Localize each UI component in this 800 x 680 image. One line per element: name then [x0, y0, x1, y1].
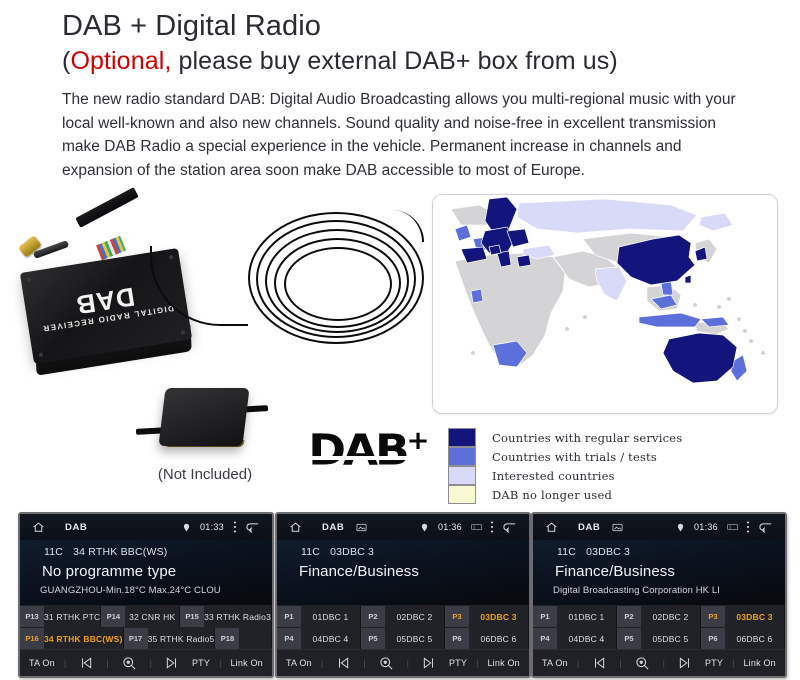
preset-name: 02DBC 2 — [385, 612, 444, 622]
overflow-menu-icon[interactable] — [746, 521, 750, 533]
divider: | — [64, 658, 66, 668]
legend-row: Countries with trials / tests — [448, 447, 682, 466]
preset-number: P14 — [101, 606, 125, 627]
divider: | — [150, 658, 152, 668]
channel-id: 11C — [301, 546, 320, 558]
preset-grid: P1331 RTHK PTC P1432 CNR HK P1533 RTHK R… — [20, 605, 272, 649]
preset-name: 03DBC 3 — [469, 612, 528, 622]
preset-item[interactable]: P202DBC 2 — [617, 606, 701, 627]
clock: 01:36 — [438, 522, 462, 532]
clock: 01:33 — [200, 522, 224, 532]
status-bar: DAB 01:33 — [20, 514, 272, 540]
preset-name: 32 CNR HK — [125, 612, 179, 622]
coax-cable-coil — [238, 206, 428, 356]
radio-text-info: GUANGZHOU-Min.18°C Max.24°C CLOU — [20, 585, 272, 596]
preset-grid: P101DBC 1 P202DBC 2 P303DBC 3 P404DBC 4 … — [277, 605, 529, 649]
radio-screenshot-3[interactable]: DAB 01:36 11C03 — [531, 512, 787, 678]
description-paragraph: The new radio standard DAB: Digital Audi… — [62, 88, 742, 182]
location-pin-icon — [420, 522, 429, 533]
radio-text-info: Digital Broadcasting Corporation HK LI — [533, 585, 785, 596]
status-bar: DAB 01:36 — [533, 514, 785, 540]
map-switzerland — [489, 245, 501, 255]
preset-item[interactable]: P505DBC 5 — [617, 628, 701, 649]
ta-button[interactable]: TA On — [542, 658, 568, 668]
app-title: DAB — [322, 522, 344, 533]
legend-row: DAB no longer used — [448, 485, 682, 504]
header-block: DAB + Digital Radio (Optional, please bu… — [62, 8, 762, 182]
preset-item[interactable]: P101DBC 1 — [533, 606, 617, 627]
preset-number: P6 — [445, 628, 469, 649]
skip-next-icon[interactable] — [422, 657, 436, 669]
wire-harness — [75, 187, 138, 228]
preset-number: P6 — [701, 628, 725, 649]
radio-screenshot-1[interactable]: DAB 01:33 11C34 RTHK BBC(WS) No programm… — [18, 512, 274, 678]
preset-row: P404DBC 4 P505DBC 5 P606DBC 6 — [277, 627, 529, 649]
link-button[interactable]: Link On — [743, 658, 775, 668]
preset-item[interactable]: P1735 RTHK Radio5 — [124, 628, 216, 649]
app-title: DAB — [65, 522, 87, 533]
preset-item-active[interactable]: P1634 RTHK BBC(WS) — [20, 628, 124, 649]
station-name: 34 RTHK BBC(WS) — [73, 546, 167, 558]
skip-previous-icon[interactable] — [79, 657, 93, 669]
sd-card-icon — [471, 523, 482, 531]
legend-swatch-nolonger — [448, 485, 476, 504]
dab-plus-logo: DAB+ — [308, 418, 442, 466]
cable-tail — [388, 210, 424, 242]
legend-label-trials: Countries with trials / tests — [492, 450, 657, 464]
preset-item-active[interactable]: P303DBC 3 — [701, 606, 785, 627]
preset-number: P1 — [533, 606, 557, 627]
skip-next-icon[interactable] — [678, 657, 692, 669]
legend-label-interested: Interested countries — [492, 469, 615, 483]
preset-name: 03DBC 3 — [725, 612, 784, 622]
antenna-top — [158, 388, 249, 446]
preset-name: 06DBC 6 — [469, 634, 528, 644]
preset-item[interactable]: P505DBC 5 — [361, 628, 445, 649]
preset-row: P404DBC 4 P505DBC 5 P606DBC 6 — [533, 627, 785, 649]
preset-name: 05DBC 5 — [385, 634, 444, 644]
link-button[interactable]: Link On — [487, 658, 519, 668]
radio-screenshot-2[interactable]: DAB 01:36 11C03 — [275, 512, 531, 678]
preset-item[interactable]: P1533 RTHK Radio3 — [180, 606, 272, 627]
legend-swatch-regular — [448, 428, 476, 447]
channel-id: 11C — [557, 546, 576, 558]
page-root: DAB + Digital Radio (Optional, please bu… — [0, 0, 800, 680]
preset-item[interactable]: P202DBC 2 — [361, 606, 445, 627]
preset-item[interactable]: P606DBC 6 — [445, 628, 529, 649]
preset-number: P2 — [361, 606, 385, 627]
search-scan-icon[interactable] — [122, 656, 137, 671]
back-arrow-icon[interactable] — [502, 521, 517, 533]
preset-number: P13 — [20, 606, 44, 627]
page-subtitle: (Optional, please buy external DAB+ box … — [62, 44, 762, 78]
preset-name: 33 RTHK Radio3 — [204, 612, 271, 622]
preset-number: P4 — [277, 628, 301, 649]
preset-row: P1634 RTHK BBC(WS) P1735 RTHK Radio5 P18 — [20, 627, 272, 649]
search-scan-icon[interactable] — [635, 656, 650, 671]
cable-loop — [284, 247, 392, 321]
now-playing-area: 11C03DBC 3 Finance/Business — [277, 540, 529, 605]
preset-name: 04DBC 4 — [557, 634, 616, 644]
preset-number: P18 — [215, 628, 239, 649]
legend-label-regular: Countries with regular services — [492, 431, 682, 445]
preset-number: P2 — [617, 606, 641, 627]
divider: | — [363, 658, 365, 668]
preset-number: P3 — [701, 606, 725, 627]
map-legend: Countries with regular services Countrie… — [448, 428, 682, 504]
legend-swatch-interested — [448, 466, 476, 485]
programme-type: Finance/Business — [277, 563, 529, 580]
preset-item[interactable]: P606DBC 6 — [701, 628, 785, 649]
sd-card-icon — [727, 523, 738, 531]
page-title: DAB + Digital Radio — [62, 8, 762, 44]
preset-name: 04DBC 4 — [301, 634, 360, 644]
map-greece — [517, 255, 531, 267]
now-playing-area: 11C03DBC 3 Finance/Business Digital Broa… — [533, 540, 785, 605]
image-icon — [356, 523, 367, 532]
preset-number: P17 — [124, 628, 148, 649]
back-arrow-icon[interactable] — [758, 521, 773, 533]
preset-item[interactable]: P101DBC 1 — [277, 606, 361, 627]
location-pin-icon — [676, 522, 685, 533]
preset-item-active[interactable]: P303DBC 3 — [445, 606, 529, 627]
preset-number: P16 — [20, 628, 44, 649]
legend-label-nolonger: DAB no longer used — [492, 488, 612, 502]
preset-row: P1331 RTHK PTC P1432 CNR HK P1533 RTHK R… — [20, 605, 272, 627]
legend-row: Countries with regular services — [448, 428, 682, 447]
preset-item[interactable]: P404DBC 4 — [533, 628, 617, 649]
preset-name: 05DBC 5 — [641, 634, 700, 644]
divider: | — [407, 658, 409, 668]
link-button[interactable]: Link On — [230, 658, 262, 668]
divider: | — [106, 658, 108, 668]
divider: | — [577, 658, 579, 668]
preset-name: 01DBC 1 — [557, 612, 616, 622]
home-icon[interactable] — [32, 521, 45, 534]
status-bar: DAB 01:36 — [277, 514, 529, 540]
subtitle-optional: Optional, — [70, 47, 171, 75]
preset-number: P1 — [277, 606, 301, 627]
now-playing-area: 11C34 RTHK BBC(WS) No programme type GUA… — [20, 540, 272, 605]
pty-button[interactable]: PTY — [192, 658, 210, 668]
clock: 01:36 — [694, 522, 718, 532]
skip-next-icon[interactable] — [165, 657, 179, 669]
preset-item[interactable]: P1432 CNR HK — [101, 606, 180, 627]
divider: | — [219, 658, 221, 668]
back-arrow-icon[interactable] — [245, 521, 260, 533]
preset-number: P15 — [180, 606, 204, 627]
skip-previous-icon[interactable] — [592, 657, 606, 669]
divider: | — [321, 658, 323, 668]
player-toolbar: TA On | | | PTY | Link On — [20, 649, 272, 676]
preset-name: 35 RTHK Radio5 — [148, 634, 215, 644]
overflow-menu-icon[interactable] — [233, 521, 237, 533]
map-ghana — [471, 289, 483, 303]
pty-button[interactable]: PTY — [705, 658, 723, 668]
subtitle-rest: please buy external DAB+ box from us) — [171, 47, 617, 75]
pty-button[interactable]: PTY — [449, 658, 467, 668]
divider: | — [476, 658, 478, 668]
app-title: DAB — [578, 522, 600, 533]
preset-name: 01DBC 1 — [301, 612, 360, 622]
programme-type: No programme type — [20, 563, 272, 580]
player-toolbar: TA On | | | PTY | Link On — [533, 649, 785, 676]
preset-name: 31 RTHK PTC — [44, 612, 100, 622]
world-map-card — [432, 194, 778, 414]
station-name: 03DBC 3 — [330, 546, 374, 558]
divider: | — [619, 658, 621, 668]
antenna-caption: (Not Included) — [120, 466, 290, 483]
overflow-menu-icon[interactable] — [490, 521, 494, 533]
image-icon — [612, 523, 623, 532]
legend-row: Interested countries — [448, 466, 682, 485]
channel-line: 11C34 RTHK BBC(WS) — [20, 546, 272, 558]
home-icon[interactable] — [289, 521, 302, 534]
legend-swatch-trials — [448, 447, 476, 466]
preset-row: P101DBC 1 P202DBC 2 P303DBC 3 — [277, 605, 529, 627]
programme-type: Finance/Business — [533, 563, 785, 580]
preset-number: P3 — [445, 606, 469, 627]
preset-name: 34 RTHK BBC(WS) — [44, 634, 123, 644]
preset-item[interactable]: P404DBC 4 — [277, 628, 361, 649]
channel-id: 11C — [44, 546, 63, 558]
preset-name: 02DBC 2 — [641, 612, 700, 622]
skip-previous-icon[interactable] — [336, 657, 350, 669]
ta-button[interactable]: TA On — [286, 658, 312, 668]
preset-name: 06DBC 6 — [725, 634, 784, 644]
divider: | — [732, 658, 734, 668]
channel-line: 11C03DBC 3 — [533, 546, 785, 558]
station-name: 03DBC 3 — [586, 546, 630, 558]
dab-antenna — [148, 384, 256, 456]
player-toolbar: TA On | | | PTY | Link On — [277, 649, 529, 676]
channel-line: 11C03DBC 3 — [277, 546, 529, 558]
preset-number: P5 — [617, 628, 641, 649]
preset-item[interactable]: P18 — [215, 628, 272, 649]
dab-plus-logo-text: DAB — [308, 425, 406, 475]
ta-button[interactable]: TA On — [29, 658, 55, 668]
world-map-svg — [433, 195, 777, 413]
home-icon[interactable] — [545, 521, 558, 534]
radio-screenshots: DAB 01:33 11C34 RTHK BBC(WS) No programm… — [0, 512, 800, 680]
preset-row: P101DBC 1 P202DBC 2 P303DBC 3 — [533, 605, 785, 627]
preset-item[interactable]: P1331 RTHK PTC — [20, 606, 101, 627]
dab-plus-logo-plus: + — [407, 426, 430, 456]
preset-number: P4 — [533, 628, 557, 649]
divider: | — [663, 658, 665, 668]
dab-plus-logo-bar — [310, 456, 412, 460]
search-scan-icon[interactable] — [379, 656, 394, 671]
location-pin-icon — [182, 522, 191, 533]
preset-grid: P101DBC 1 P202DBC 2 P303DBC 3 P404DBC 4 … — [533, 605, 785, 649]
preset-number: P5 — [361, 628, 385, 649]
